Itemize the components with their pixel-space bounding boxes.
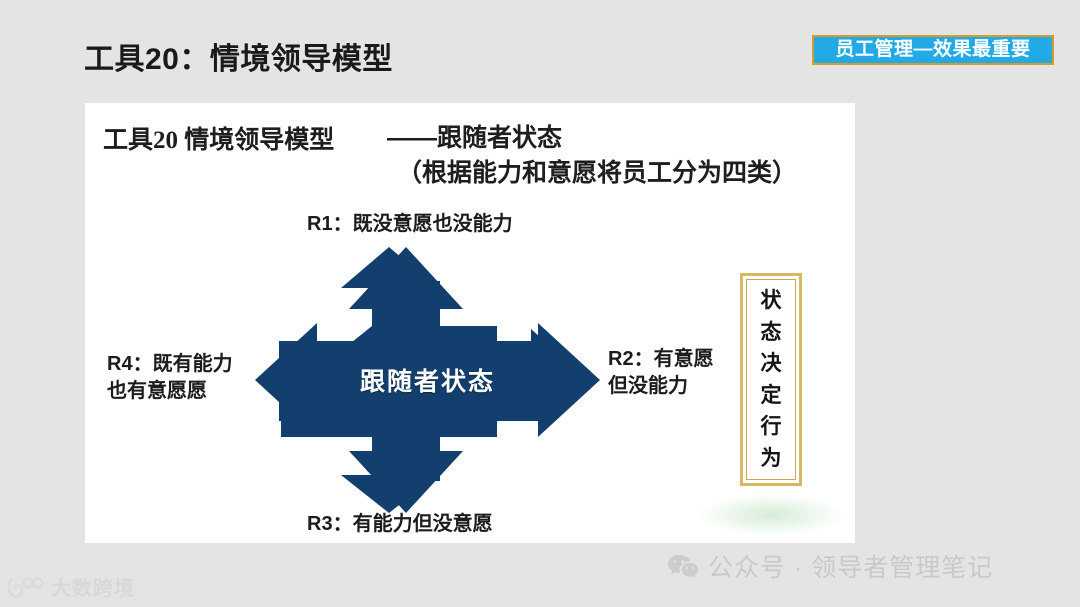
diagram-subheading-line2: （根据能力和意愿将员工分为四类） bbox=[397, 153, 797, 189]
vertical-callout-text: 状 态 决 定 行 为 bbox=[746, 279, 796, 480]
diagram-subheading-line1: ——跟随者状态 bbox=[387, 118, 562, 154]
status-badge: 员工管理—效果最重要 bbox=[812, 35, 1054, 65]
wechat-watermark: 公众号 · 领导者管理笔记 bbox=[668, 548, 993, 584]
diagram-card: 工具20 情境领导模型 ——跟随者状态 （根据能力和意愿将员工分为四类） R1：… bbox=[85, 103, 855, 543]
page-title: 工具20：情境领导模型 bbox=[84, 34, 393, 78]
brand-logo: 大数跨境 bbox=[8, 572, 135, 601]
vertical-callout-box: 状 态 决 定 行 为 bbox=[740, 273, 802, 486]
diagram-heading: 工具20 情境领导模型 bbox=[103, 120, 334, 156]
four-direction-arrow-icon bbox=[255, 247, 600, 513]
callout-char-0: 状 bbox=[761, 290, 782, 311]
quadrant-label-r3: R3：有能力但没意愿 bbox=[307, 511, 493, 538]
quadrant-label-r1: R1：既没意愿也没能力 bbox=[307, 211, 513, 238]
callout-char-1: 态 bbox=[761, 322, 782, 343]
callout-char-4: 行 bbox=[761, 416, 782, 437]
callout-char-2: 决 bbox=[761, 353, 782, 374]
brand-logo-label: 大数跨境 bbox=[51, 572, 135, 601]
callout-char-5: 为 bbox=[761, 448, 782, 469]
quadrant-label-r4: R4：既有能力 也有意愿愿 bbox=[107, 351, 233, 405]
callout-char-3: 定 bbox=[761, 385, 782, 406]
dashu-logo-icon bbox=[8, 576, 44, 598]
wechat-icon bbox=[668, 553, 698, 579]
quadrant-label-r2: R2：有意愿 但没能力 bbox=[608, 346, 714, 400]
wechat-watermark-label: 公众号 · 领导者管理笔记 bbox=[708, 548, 993, 584]
card-background-watermark bbox=[701, 495, 841, 535]
